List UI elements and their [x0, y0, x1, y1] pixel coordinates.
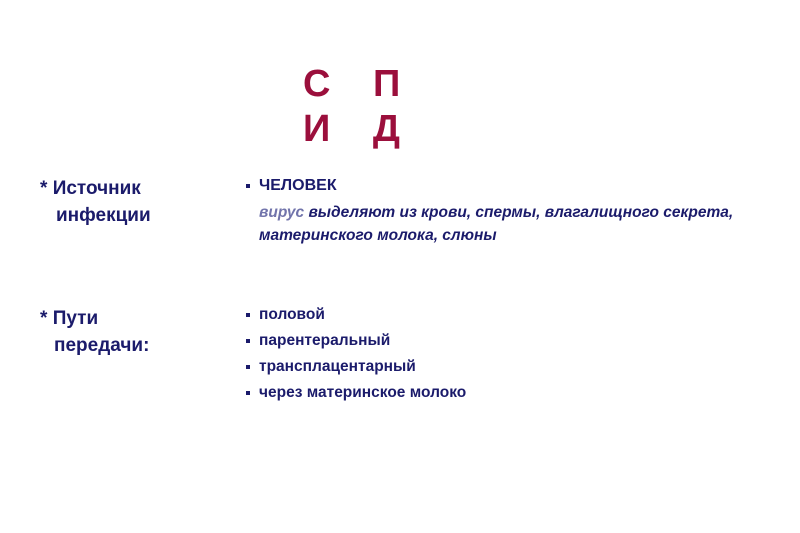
square-bullet-icon [246, 184, 250, 188]
source-description-rest: выделяют из крови, спермы, влагалищного … [259, 204, 733, 245]
source-heading-row: ЧЕЛОВЕК [246, 175, 766, 197]
transmission-item-label: половой [259, 305, 325, 325]
list-item: парентеральный [246, 331, 766, 351]
transmission-item-label: трансплацентарный [259, 357, 416, 377]
list-item: половой [246, 305, 766, 325]
left-heading-source-line2: инфекции [40, 203, 240, 230]
page-title: С П И Д [303, 62, 443, 152]
asterisk-marker: * [40, 178, 47, 199]
square-bullet-icon [246, 339, 250, 343]
list-item: трансплацентарный [246, 357, 766, 377]
source-description: вирус выделяют из крови, спермы, влагали… [246, 201, 766, 248]
square-bullet-icon [246, 313, 250, 317]
list-item: через материнское молоко [246, 383, 766, 403]
transmission-list: половой парентеральный трансплацентарный… [246, 305, 766, 410]
left-heading-transmission-line2: передачи: [40, 333, 240, 360]
slide-canvas: С П И Д * Источник инфекции * Пути перед… [0, 0, 800, 533]
square-bullet-icon [246, 391, 250, 395]
source-description-text: вирус выделяют из крови, спермы, влагали… [259, 201, 766, 248]
square-bullet-icon [246, 365, 250, 369]
left-heading-source-line1: Источник [53, 178, 141, 199]
asterisk-marker: * [40, 308, 47, 329]
left-heading-transmission: * Пути передачи: [40, 306, 240, 360]
source-heading-label: ЧЕЛОВЕК [259, 175, 337, 197]
left-heading-column: * Источник инфекции * Пути передачи: [40, 176, 240, 230]
source-description-leading-word: вирус [259, 204, 304, 221]
slide-title: С П И Д [303, 62, 443, 152]
left-heading-source: * Источник инфекции [40, 176, 240, 230]
transmission-item-label: через материнское молоко [259, 383, 466, 403]
right-content-column: ЧЕЛОВЕК вирус выделяют из крови, спермы,… [246, 175, 766, 248]
transmission-item-label: парентеральный [259, 331, 390, 351]
left-heading-transmission-line1: Пути [53, 308, 98, 329]
